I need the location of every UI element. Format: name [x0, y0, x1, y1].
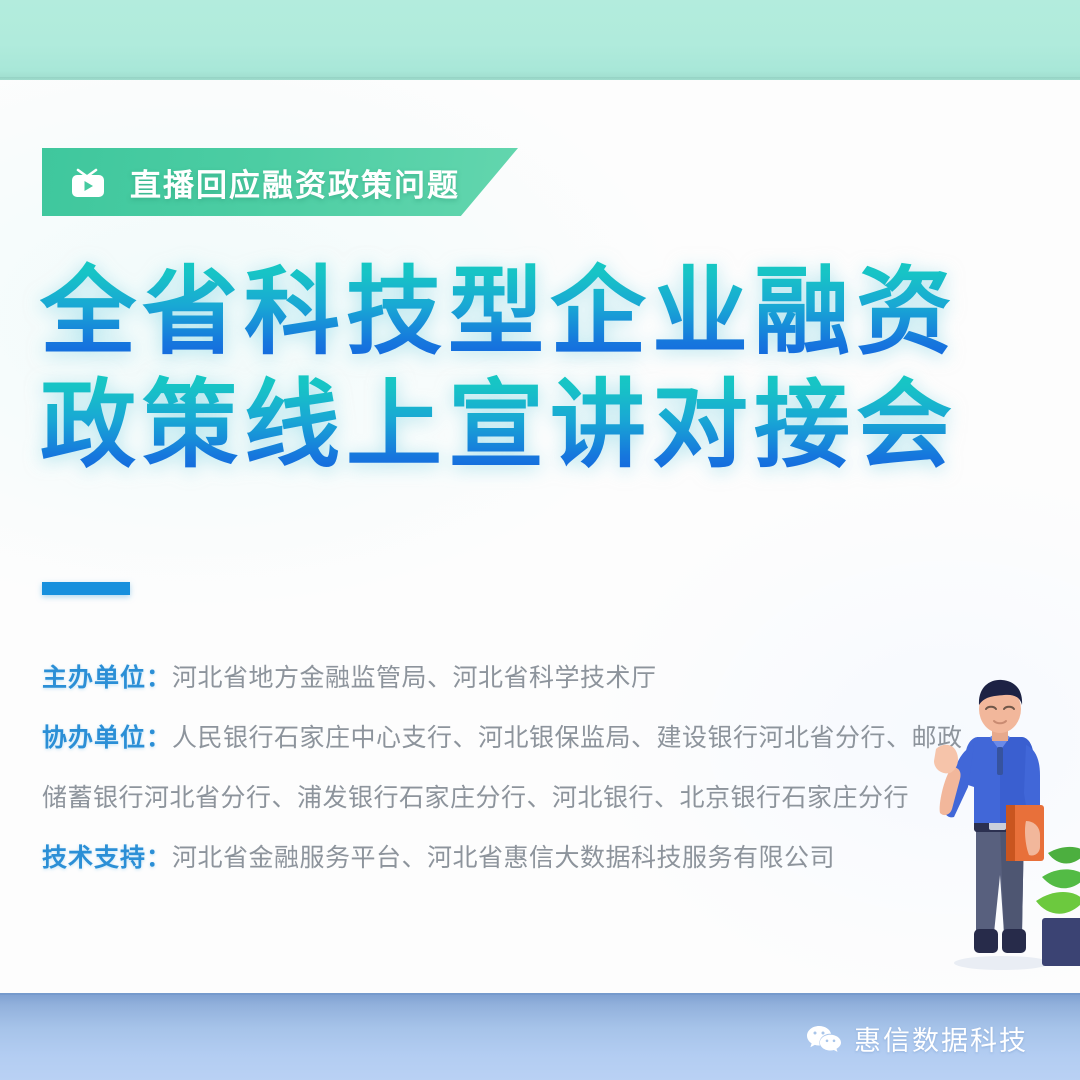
headline-line-2: 政策线上宣讲对接会	[40, 369, 1000, 482]
info-value-tech-support: 河北省金融服务平台、河北省惠信大数据科技服务有限公司	[172, 843, 835, 872]
waving-businessman-illustration	[930, 675, 1080, 975]
headline-line-1: 全省科技型企业融资	[40, 256, 1000, 369]
info-label-host: 主办单位：	[42, 663, 172, 692]
info-label-coorganizer: 协办单位：	[42, 723, 172, 752]
info-value-coorganizer-continued: 储蓄银行河北省分行、浦发银行石家庄分行、河北银行、北京银行石家庄分行	[42, 783, 909, 812]
info-row-coorganizer-continued: 储蓄银行河北省分行、浦发银行石家庄分行、河北银行、北京银行石家庄分行	[42, 768, 922, 828]
top-decorative-band	[0, 0, 1080, 80]
tv-broadcast-icon	[68, 163, 108, 201]
wechat-account-footer[interactable]: 惠信数据科技	[806, 1019, 1028, 1058]
info-value-coorganizer: 人民银行石家庄中心支行、河北银保监局、建设银行河北省分行、邮政	[172, 723, 963, 752]
info-row-coorganizer: 协办单位：人民银行石家庄中心支行、河北银保监局、建设银行河北省分行、邮政	[42, 708, 922, 768]
organizer-info-block: 主办单位：河北省地方金融监管局、河北省科学技术厅 协办单位：人民银行石家庄中心支…	[42, 648, 922, 888]
poster-canvas: 直播回应融资政策问题 全省科技型企业融资 政策线上宣讲对接会 主办单位：河北省地…	[0, 0, 1080, 1080]
info-row-host: 主办单位：河北省地方金融监管局、河北省科学技术厅	[42, 648, 922, 708]
page-title: 全省科技型企业融资 政策线上宣讲对接会	[40, 256, 1000, 483]
title-underline-rule	[42, 582, 130, 595]
info-row-tech-support: 技术支持：河北省金融服务平台、河北省惠信大数据科技服务有限公司	[42, 828, 922, 888]
info-value-host: 河北省地方金融监管局、河北省科学技术厅	[172, 663, 657, 692]
live-badge-label: 直播回应融资政策问题	[130, 160, 460, 205]
info-label-tech-support: 技术支持：	[42, 843, 172, 872]
wechat-icon	[806, 1024, 842, 1054]
wechat-account-name: 惠信数据科技	[854, 1019, 1028, 1058]
live-stream-badge: 直播回应融资政策问题	[42, 148, 518, 216]
